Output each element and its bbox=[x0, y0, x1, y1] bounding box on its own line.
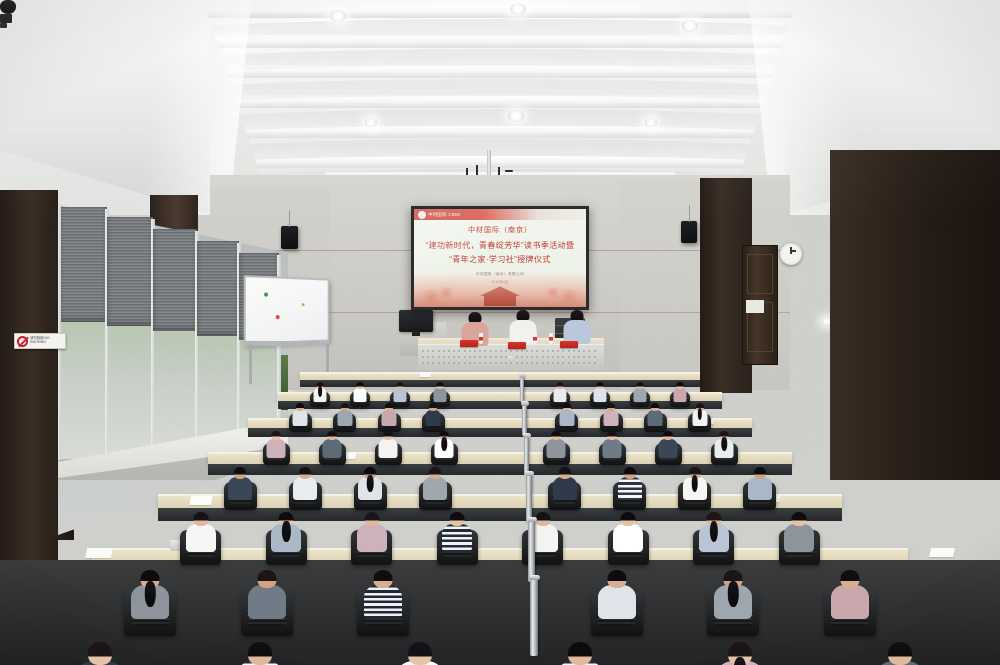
audience-torso bbox=[426, 410, 441, 426]
audience-person bbox=[394, 382, 407, 403]
audience-person bbox=[648, 403, 663, 427]
audience-head bbox=[429, 467, 441, 478]
audience-torso bbox=[323, 439, 342, 458]
audience-head bbox=[568, 642, 592, 665]
audience-torso bbox=[186, 524, 216, 552]
audience-head bbox=[840, 570, 859, 588]
audience-torso bbox=[357, 524, 387, 552]
desk-paper-3 bbox=[189, 496, 213, 505]
audience-person bbox=[354, 382, 367, 403]
audience-torso bbox=[382, 410, 397, 426]
audience-person bbox=[396, 642, 444, 665]
aisle-stanchion-6 bbox=[530, 578, 538, 656]
audience-person bbox=[659, 431, 678, 460]
audience-head bbox=[888, 642, 912, 665]
aisle-stanchion-top-4 bbox=[525, 471, 534, 476]
aisle-stanchion-1 bbox=[520, 376, 524, 402]
audience-torso bbox=[554, 388, 567, 402]
audience-person bbox=[554, 382, 567, 403]
audience-head bbox=[437, 382, 444, 389]
audience-person bbox=[186, 512, 216, 555]
audience-head bbox=[637, 382, 644, 389]
audience-head bbox=[677, 382, 684, 389]
audience-head bbox=[597, 382, 604, 389]
audience-head bbox=[563, 403, 571, 411]
audience-head bbox=[535, 512, 550, 526]
aisle-stanchion-top-3 bbox=[523, 433, 531, 438]
audience-torso bbox=[228, 477, 252, 500]
audience-head bbox=[551, 431, 561, 441]
audience-head bbox=[607, 431, 617, 441]
audience-torso bbox=[547, 439, 566, 458]
audience-person bbox=[876, 642, 924, 665]
audience-head bbox=[557, 382, 564, 389]
aisle-stanchion-2 bbox=[522, 404, 527, 436]
audience-person bbox=[357, 512, 387, 555]
audience-torso bbox=[648, 410, 663, 426]
audience-person bbox=[594, 382, 607, 403]
audience-torso bbox=[613, 524, 643, 552]
audience-person bbox=[248, 570, 286, 623]
audience-ponytail bbox=[367, 475, 374, 492]
audience-head bbox=[234, 467, 246, 478]
audience-person bbox=[692, 403, 707, 427]
audience-torso bbox=[598, 585, 636, 619]
aisle-stanchion-top-2 bbox=[521, 401, 529, 406]
audience-person bbox=[379, 431, 398, 460]
audience-head bbox=[271, 431, 281, 441]
audience-torso bbox=[337, 410, 352, 426]
audience-torso bbox=[748, 477, 772, 500]
audience-head bbox=[88, 642, 112, 665]
aisle-stanchion-top-5 bbox=[527, 517, 537, 522]
audience-torso bbox=[831, 585, 869, 619]
audience-person bbox=[323, 431, 342, 460]
audience-person bbox=[556, 642, 604, 665]
audience-person bbox=[559, 403, 574, 427]
audience-head bbox=[193, 512, 208, 526]
desk-paper-8 bbox=[929, 548, 955, 557]
audience-ponytail bbox=[691, 475, 698, 492]
audience-head bbox=[559, 467, 571, 478]
audience-person bbox=[228, 467, 252, 502]
audience-person bbox=[618, 467, 642, 502]
audience-person bbox=[603, 431, 622, 460]
aisle-stanchion-top-1 bbox=[519, 373, 526, 378]
audience-head bbox=[651, 403, 659, 411]
audience-head bbox=[408, 642, 432, 665]
aisle-stanchion-5 bbox=[528, 520, 535, 582]
audience-torso bbox=[364, 585, 402, 619]
audience-torso bbox=[634, 388, 647, 402]
audience-ponytail bbox=[441, 437, 447, 451]
desk-front-5 bbox=[158, 508, 842, 521]
audience-person bbox=[337, 403, 352, 427]
audience-head bbox=[607, 570, 626, 588]
audience-torso bbox=[659, 439, 678, 458]
desk-paper-4 bbox=[419, 372, 431, 377]
audience-torso bbox=[603, 439, 622, 458]
audience-head bbox=[374, 570, 393, 588]
audience-person bbox=[314, 382, 327, 403]
audience-person bbox=[382, 403, 397, 427]
conference-hall-photo: 请勿吸烟 NO SMOKING 中材国际 CBMI 中材国际（南京） “建功新时… bbox=[0, 0, 1000, 665]
audience-person bbox=[683, 467, 707, 502]
audience-torso bbox=[559, 410, 574, 426]
audience-person bbox=[784, 512, 814, 555]
audience-torso bbox=[379, 439, 398, 458]
audience-person bbox=[613, 512, 643, 555]
audience-ponytail bbox=[318, 386, 322, 397]
audience-person bbox=[553, 467, 577, 502]
audience-head bbox=[621, 512, 636, 526]
audience-head bbox=[357, 382, 364, 389]
desk-row-5 bbox=[158, 494, 842, 508]
audience-person bbox=[364, 570, 402, 623]
audience-head bbox=[341, 403, 349, 411]
audience-person bbox=[236, 642, 284, 665]
audience-head bbox=[383, 431, 393, 441]
audience-person bbox=[699, 512, 729, 555]
desk-row-3 bbox=[248, 418, 752, 428]
audience-head bbox=[607, 403, 615, 411]
audience-person bbox=[434, 382, 447, 403]
aisle-stanchion-top-6 bbox=[529, 575, 540, 580]
desk-row-4 bbox=[208, 452, 792, 464]
audience-person bbox=[674, 382, 687, 403]
audience-head bbox=[248, 642, 272, 665]
audience-head bbox=[364, 512, 379, 526]
audience-torso bbox=[604, 410, 619, 426]
audience-torso bbox=[553, 477, 577, 500]
audience-person bbox=[131, 570, 169, 623]
desk-paper-7 bbox=[85, 548, 113, 558]
audience-person bbox=[426, 403, 441, 427]
audience-person bbox=[423, 467, 447, 502]
audience-head bbox=[754, 467, 766, 478]
audience-person bbox=[716, 642, 764, 665]
audience-head bbox=[296, 403, 304, 411]
desk-row-1 bbox=[300, 372, 700, 380]
audience-head bbox=[327, 431, 337, 441]
audience-person bbox=[547, 431, 566, 460]
audience-torso bbox=[293, 410, 308, 426]
audience-person bbox=[634, 382, 647, 403]
audience-person bbox=[271, 512, 301, 555]
audience-person bbox=[293, 467, 317, 502]
audience-person bbox=[604, 403, 619, 427]
desk-cup-small bbox=[508, 356, 513, 361]
audience-head bbox=[429, 403, 437, 411]
desk-row-2 bbox=[278, 392, 722, 401]
audience-torso bbox=[394, 388, 407, 402]
audience-ponytail bbox=[721, 437, 727, 451]
audience-head bbox=[257, 570, 276, 588]
audience-torso bbox=[674, 388, 687, 402]
audience-person bbox=[442, 512, 472, 555]
audience-person bbox=[598, 570, 636, 623]
audience-torso bbox=[442, 524, 472, 552]
audience-person bbox=[435, 431, 454, 460]
audience-head bbox=[397, 382, 404, 389]
audience-head bbox=[624, 467, 636, 478]
audience-head bbox=[663, 431, 673, 441]
audience-torso bbox=[434, 388, 447, 402]
audience-head bbox=[299, 467, 311, 478]
audience-torso bbox=[293, 477, 317, 500]
audience-head bbox=[792, 512, 807, 526]
audience-person bbox=[293, 403, 308, 427]
audience-head bbox=[450, 512, 465, 526]
audience-torso bbox=[594, 388, 607, 402]
audience-torso bbox=[618, 477, 642, 500]
aisle-stanchion-3 bbox=[524, 436, 529, 476]
audience-person bbox=[748, 467, 772, 502]
audience-person bbox=[714, 570, 752, 623]
audience-person bbox=[715, 431, 734, 460]
audience-person bbox=[76, 642, 124, 665]
audience-torso bbox=[267, 439, 286, 458]
audience-torso bbox=[423, 477, 447, 500]
audience-torso bbox=[354, 388, 367, 402]
audience-head bbox=[385, 403, 393, 411]
audience-person bbox=[831, 570, 869, 623]
audience-person bbox=[267, 431, 286, 460]
audience-torso bbox=[784, 524, 814, 552]
audience-person bbox=[358, 467, 382, 502]
audience-torso bbox=[248, 585, 286, 619]
